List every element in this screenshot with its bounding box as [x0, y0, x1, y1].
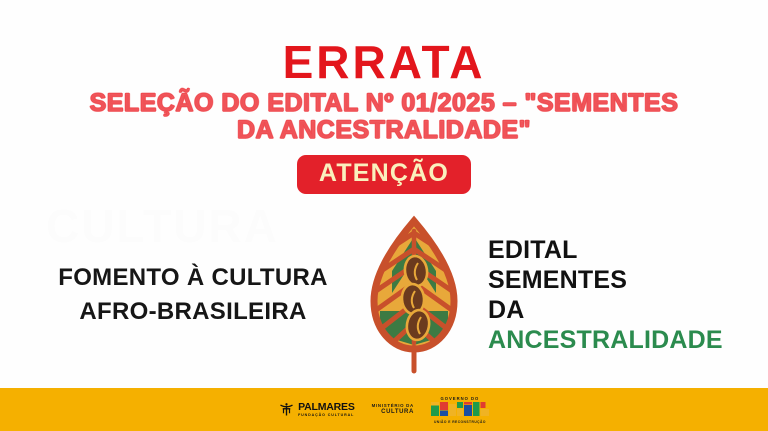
- leaf-seeds-logo-icon: [362, 215, 466, 375]
- attention-badge[interactable]: ATENÇÃO: [297, 155, 471, 194]
- tagline-line-1: FOMENTO À CULTURA: [32, 261, 354, 295]
- subtitle-line-2: DA ANCESTRALIDADE": [32, 117, 736, 144]
- palmares-name: PALMARES: [298, 402, 355, 413]
- government-bottom-label: UNIÃO E RECONSTRUÇÃO: [431, 420, 489, 424]
- palmares-logo: PALMARES FUNDAÇÃO CULTURAL: [279, 402, 355, 418]
- brasil-wordmark-icon: [431, 402, 489, 419]
- footer-logo-bar: PALMARES FUNDAÇÃO CULTURAL MINISTÉRIO DA…: [0, 388, 768, 431]
- errata-banner: CULTURA ERRATA SELEÇÃO DO EDITAL Nº 01/2…: [0, 0, 768, 431]
- tagline-line-2: AFRO-BRASILEIRA: [32, 295, 354, 329]
- government-top-label: GOVERNO DO: [431, 396, 489, 401]
- palmares-subtitle: FUNDAÇÃO CULTURAL: [298, 414, 355, 418]
- edital-line-3: DA: [488, 295, 736, 325]
- edital-line-2: SEMENTES: [488, 265, 736, 295]
- ministry-of-culture-logo: MINISTÉRIO DA CULTURA: [372, 403, 414, 416]
- subtitle-line-1: SELEÇÃO DO EDITAL Nº 01/2025 – "SEMENTES: [32, 90, 736, 117]
- edital-title-block: EDITAL SEMENTES DA ANCESTRALIDADE: [466, 235, 736, 355]
- ministry-line-2: CULTURA: [372, 409, 414, 417]
- edital-line-4: ANCESTRALIDADE: [488, 325, 736, 355]
- palmares-wordmark: PALMARES FUNDAÇÃO CULTURAL: [298, 402, 355, 418]
- page-subtitle: SELEÇÃO DO EDITAL Nº 01/2025 – "SEMENTES…: [0, 86, 768, 144]
- main-content-row: FOMENTO À CULTURA AFRO-BRASILEIRA: [0, 210, 768, 380]
- palmares-figure-icon: [279, 402, 294, 417]
- attention-badge-container: ATENÇÃO: [0, 155, 768, 194]
- government-of-brazil-logo: GOVERNO DO UNIÃO E RECONSTRUÇÃO: [431, 396, 489, 424]
- ministry-line-1: MINISTÉRIO DA: [372, 403, 414, 409]
- program-tagline: FOMENTO À CULTURA AFRO-BRASILEIRA: [32, 261, 362, 329]
- banner-header: ERRATA SELEÇÃO DO EDITAL Nº 01/2025 – "S…: [0, 0, 768, 144]
- edital-line-1: EDITAL: [488, 235, 736, 265]
- page-title: ERRATA: [0, 0, 768, 86]
